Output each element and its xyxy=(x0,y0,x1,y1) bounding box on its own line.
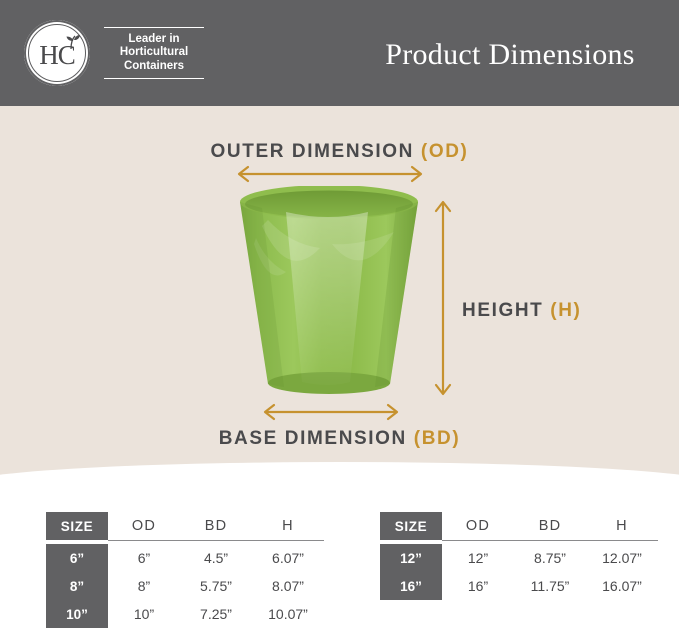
cell-bd: 7.25” xyxy=(180,600,252,628)
brand-logo: HC Leader in Horticultural Containers xyxy=(24,20,204,86)
logo-monogram: HC xyxy=(24,20,90,86)
tagline-line-1: Leader in xyxy=(106,33,202,47)
panel-curve-divider xyxy=(0,462,679,478)
cell-size: 6” xyxy=(46,544,108,572)
dimensions-table-right: SIZE OD BD H 12” 12” 8.75” 12.07” 16” 16… xyxy=(380,512,658,600)
outer-dimension-code: (OD) xyxy=(421,141,469,162)
cell-h: 12.07” xyxy=(586,544,658,572)
page-title: Product Dimensions xyxy=(360,38,660,72)
cell-od: 10” xyxy=(108,600,180,628)
base-dimension-code: (BD) xyxy=(414,428,461,449)
outer-dimension-arrow-icon xyxy=(232,164,428,184)
outer-dimension-label: OUTER DIMENSION (OD) xyxy=(0,141,679,163)
table-row: 6” 6” 4.5” 6.07” xyxy=(46,544,324,572)
base-dimension-text: BASE DIMENSION xyxy=(219,428,407,449)
table-row: 16” 16” 11.75” 16.07” xyxy=(380,572,658,600)
column-header-size: SIZE xyxy=(380,512,442,540)
cell-bd: 11.75” xyxy=(514,572,586,600)
cell-size: 12” xyxy=(380,544,442,572)
table-row: 12” 12” 8.75” 12.07” xyxy=(380,544,658,572)
leaf-sprout-icon xyxy=(62,34,82,50)
green-planter-pot-illustration xyxy=(228,186,430,398)
column-header-h: H xyxy=(586,512,658,540)
header-bar: HC Leader in Horticultural Containers Pr… xyxy=(0,0,679,106)
column-header-od: OD xyxy=(442,512,514,540)
cell-size: 10” xyxy=(46,600,108,628)
cell-h: 10.07” xyxy=(252,600,324,628)
cell-od: 8” xyxy=(108,572,180,600)
column-header-size: SIZE xyxy=(46,512,108,540)
cell-h: 8.07” xyxy=(252,572,324,600)
cell-bd: 8.75” xyxy=(514,544,586,572)
table-row: 8” 8” 5.75” 8.07” xyxy=(46,572,324,600)
tagline-line-2: Horticultural xyxy=(106,46,202,60)
table-right: SIZE OD BD H 12” 12” 8.75” 12.07” 16” 16… xyxy=(380,512,658,600)
cell-bd: 4.5” xyxy=(180,544,252,572)
height-label: HEIGHT (H) xyxy=(462,300,581,322)
column-header-h: H xyxy=(252,512,324,540)
column-header-od: OD xyxy=(108,512,180,540)
height-text: HEIGHT xyxy=(462,300,543,321)
table-header-row: SIZE OD BD H xyxy=(46,512,324,540)
column-header-bd: BD xyxy=(514,512,586,540)
base-dimension-arrow-icon xyxy=(258,402,404,422)
brand-tagline: Leader in Horticultural Containers xyxy=(104,27,204,80)
height-code: (H) xyxy=(550,300,581,321)
cell-size: 16” xyxy=(380,572,442,600)
dimensions-table-left: SIZE OD BD H 6” 6” 4.5” 6.07” 8” 8” 5.75… xyxy=(46,512,324,628)
cell-bd: 5.75” xyxy=(180,572,252,600)
height-arrow-icon xyxy=(432,196,454,400)
base-dimension-label: BASE DIMENSION (BD) xyxy=(0,428,679,450)
outer-dimension-text: OUTER DIMENSION xyxy=(211,141,414,162)
tagline-line-3: Containers xyxy=(106,60,202,74)
cell-h: 16.07” xyxy=(586,572,658,600)
product-dimensions-infographic: HC Leader in Horticultural Containers Pr… xyxy=(0,0,679,636)
cell-h: 6.07” xyxy=(252,544,324,572)
logo-circle-icon: HC xyxy=(24,20,90,86)
table-row: 10” 10” 7.25” 10.07” xyxy=(46,600,324,628)
cell-size: 8” xyxy=(46,572,108,600)
table-left: SIZE OD BD H 6” 6” 4.5” 6.07” 8” 8” 5.75… xyxy=(46,512,324,628)
cell-od: 16” xyxy=(442,572,514,600)
table-header-row: SIZE OD BD H xyxy=(380,512,658,540)
column-header-bd: BD xyxy=(180,512,252,540)
cell-od: 6” xyxy=(108,544,180,572)
cell-od: 12” xyxy=(442,544,514,572)
